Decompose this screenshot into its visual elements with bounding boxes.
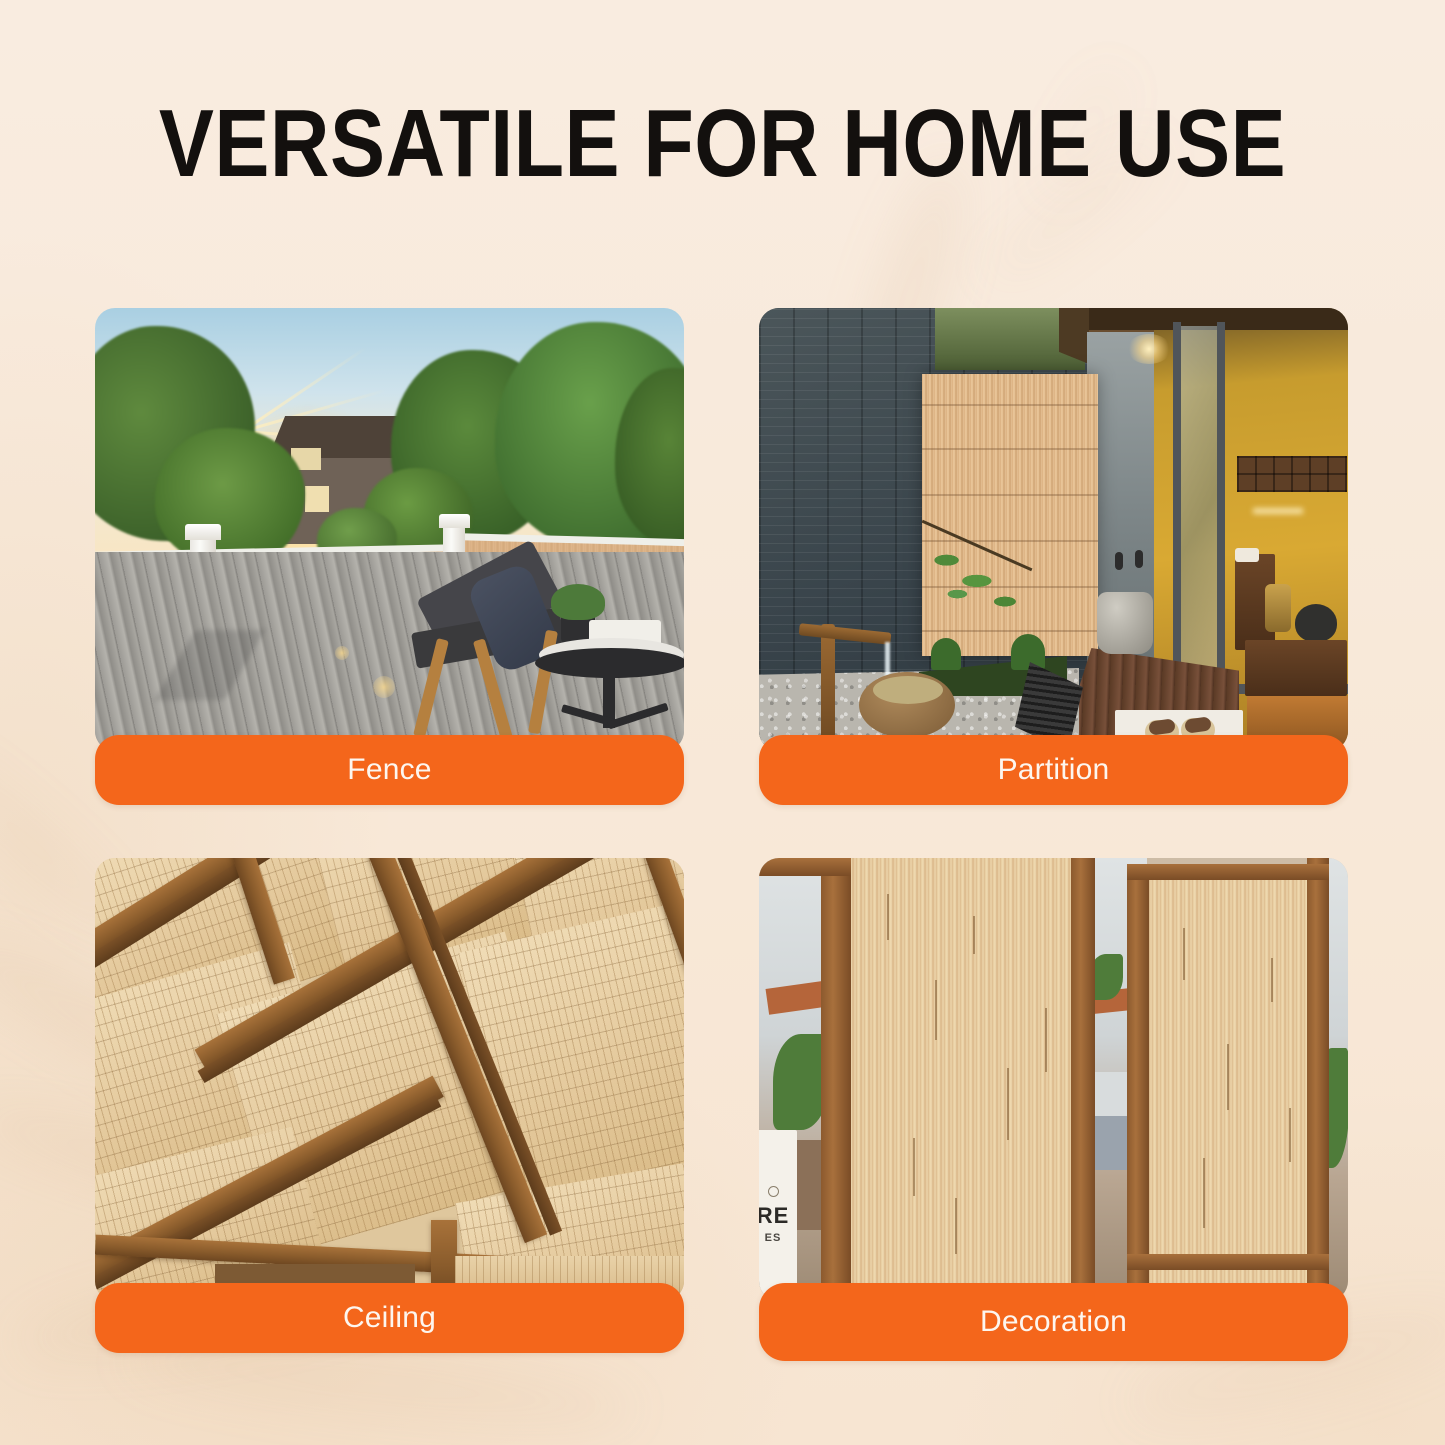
reed-band — [922, 404, 1098, 406]
sliding-glass-door — [1179, 326, 1221, 720]
reed-fleck — [1045, 1008, 1047, 1072]
fence-post-cap — [185, 524, 221, 540]
fence-post-cap — [439, 514, 470, 528]
interior-light-strip — [1253, 508, 1303, 514]
page-title: VERSATILE FOR HOME USE — [101, 96, 1344, 192]
card-label-text: Partition — [998, 753, 1110, 787]
reed-fleck — [973, 916, 975, 954]
reed-blind-panel — [849, 858, 1073, 1301]
door-frame — [1217, 322, 1225, 722]
reed-fleck — [1007, 1068, 1009, 1140]
lens-flare — [335, 646, 349, 660]
wall-tap — [1115, 552, 1123, 570]
feature-card-fence[interactable] — [95, 308, 684, 751]
ornamental-grass — [1011, 634, 1045, 670]
stone-stool — [1097, 592, 1153, 654]
ceiling-light — [1127, 334, 1171, 364]
card-label-text: Decoration — [980, 1305, 1127, 1339]
wood-chest — [1245, 640, 1347, 696]
card-label-text: Ceiling — [343, 1301, 436, 1335]
bamboo-post — [821, 624, 835, 744]
door-frame-header — [759, 858, 851, 876]
photo-decoration: RE ES — [759, 858, 1348, 1301]
card-label-fence[interactable]: Fence — [95, 735, 684, 805]
card-label-text: Fence — [347, 753, 431, 787]
reed-fleck — [913, 1138, 915, 1196]
card-label-partition[interactable]: Partition — [759, 735, 1348, 805]
reed-fleck — [935, 980, 937, 1040]
feature-card-ceiling[interactable] — [95, 858, 684, 1301]
lens-flare — [373, 676, 395, 698]
wall-tap — [1135, 550, 1143, 568]
photo-ceiling — [95, 858, 684, 1301]
ceramic-jar — [1265, 584, 1291, 632]
shelf-grid — [1237, 456, 1347, 492]
house-window — [305, 486, 329, 512]
card-label-decoration[interactable]: Decoration — [759, 1283, 1348, 1361]
feature-card-partition[interactable] — [759, 308, 1348, 751]
reed-band — [922, 630, 1098, 632]
ornamental-grass — [931, 638, 961, 670]
potted-plant — [551, 584, 605, 620]
iron-kettle — [1295, 604, 1337, 642]
feature-card-decoration[interactable]: RE ES — [759, 858, 1348, 1301]
reed-fleck — [1289, 1108, 1291, 1162]
registered-mark-icon — [768, 1186, 779, 1197]
door-frame-post — [1307, 858, 1329, 1301]
card-label-ceiling[interactable]: Ceiling — [95, 1283, 684, 1353]
feature-card-grid: RE ES — [95, 308, 1348, 1363]
door-frame-post — [821, 858, 851, 1301]
reed-fleck — [1183, 928, 1185, 980]
reed-blind-panel — [1145, 868, 1315, 1301]
reed-fleck — [1203, 1158, 1205, 1228]
sign-text-secondary: ES — [765, 1232, 782, 1244]
reed-fleck — [1227, 1044, 1229, 1110]
reed-fleck — [1271, 958, 1273, 1002]
door-frame-sill — [1127, 1254, 1329, 1270]
door-frame-post — [1127, 864, 1149, 1301]
reed-fleck — [887, 894, 889, 940]
reed-band — [922, 494, 1098, 496]
reed-band — [922, 448, 1098, 450]
promo-sign: RE ES — [759, 1130, 797, 1300]
basin-water — [873, 676, 943, 704]
tea-cup — [1235, 548, 1259, 562]
photo-partition — [759, 308, 1348, 751]
door-frame-header — [1127, 864, 1329, 880]
reed-fleck — [955, 1198, 957, 1254]
door-frame-post — [1071, 858, 1095, 1301]
photo-fence — [95, 308, 684, 751]
infographic-poster: VERSATILE FOR HOME USE — [0, 0, 1445, 1445]
sign-text-primary: RE — [759, 1203, 789, 1229]
